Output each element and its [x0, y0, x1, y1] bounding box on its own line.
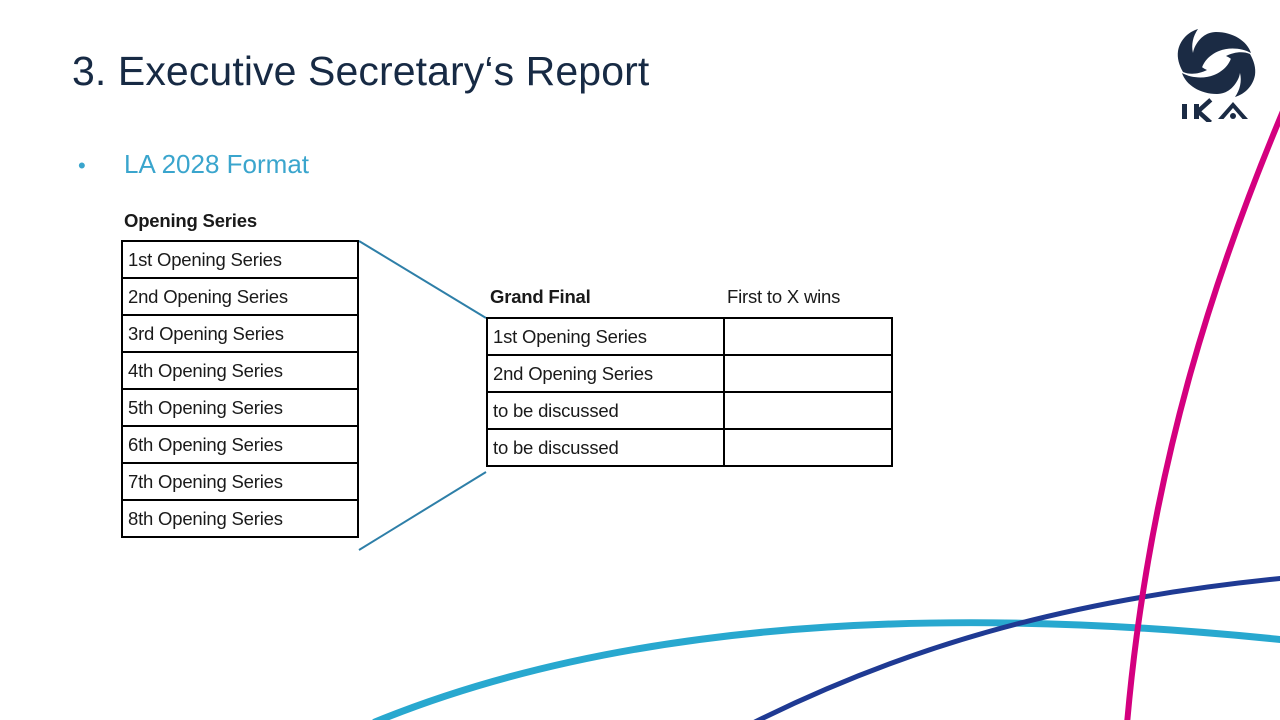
top-connector-line	[359, 241, 486, 318]
grand-final-cell: 1st Opening Series	[487, 318, 724, 355]
opening-series-cell: 8th Opening Series	[122, 500, 358, 537]
opening-series-cell: 6th Opening Series	[122, 426, 358, 463]
wins-cell	[724, 318, 892, 355]
table-row: 4th Opening Series	[122, 352, 358, 389]
grand-final-cell: to be discussed	[487, 392, 724, 429]
opening-series-caption: Opening Series	[124, 210, 257, 232]
grand-final-cell: to be discussed	[487, 429, 724, 466]
format-diagram: Opening Series 1st Opening Series 2nd Op…	[0, 0, 1280, 720]
first-to-x-wins-caption: First to X wins	[727, 286, 840, 308]
opening-series-cell: 2nd Opening Series	[122, 278, 358, 315]
logo-letter-i	[1182, 104, 1187, 119]
opening-series-cell: 1st Opening Series	[122, 241, 358, 278]
wins-cell	[724, 355, 892, 392]
table-row: 6th Opening Series	[122, 426, 358, 463]
opening-series-cell: 7th Opening Series	[122, 463, 358, 500]
opening-series-cell: 3rd Opening Series	[122, 315, 358, 352]
table-row: 2nd Opening Series	[122, 278, 358, 315]
slide-canvas: 3. Executive Secretary‘s Report • LA 202…	[0, 0, 1280, 720]
table-row: to be discussed	[487, 429, 892, 466]
table-row: 8th Opening Series	[122, 500, 358, 537]
bottom-connector-line	[359, 472, 486, 550]
table-row: 7th Opening Series	[122, 463, 358, 500]
table-row: 2nd Opening Series	[487, 355, 892, 392]
table-row: 5th Opening Series	[122, 389, 358, 426]
ika-logo	[1176, 28, 1258, 122]
table-row: 1st Opening Series	[122, 241, 358, 278]
wins-cell	[724, 392, 892, 429]
table-row: 3rd Opening Series	[122, 315, 358, 352]
grand-final-table: 1st Opening Series 2nd Opening Series to…	[486, 317, 893, 467]
opening-series-cell: 5th Opening Series	[122, 389, 358, 426]
wins-cell	[724, 429, 892, 466]
grand-final-cell: 2nd Opening Series	[487, 355, 724, 392]
opening-series-cell: 4th Opening Series	[122, 352, 358, 389]
logo-letter-a-dot	[1230, 113, 1236, 119]
opening-series-table: 1st Opening Series 2nd Opening Series 3r…	[121, 240, 359, 538]
table-row: 1st Opening Series	[487, 318, 892, 355]
grand-final-caption: Grand Final	[490, 286, 591, 308]
table-row: to be discussed	[487, 392, 892, 429]
